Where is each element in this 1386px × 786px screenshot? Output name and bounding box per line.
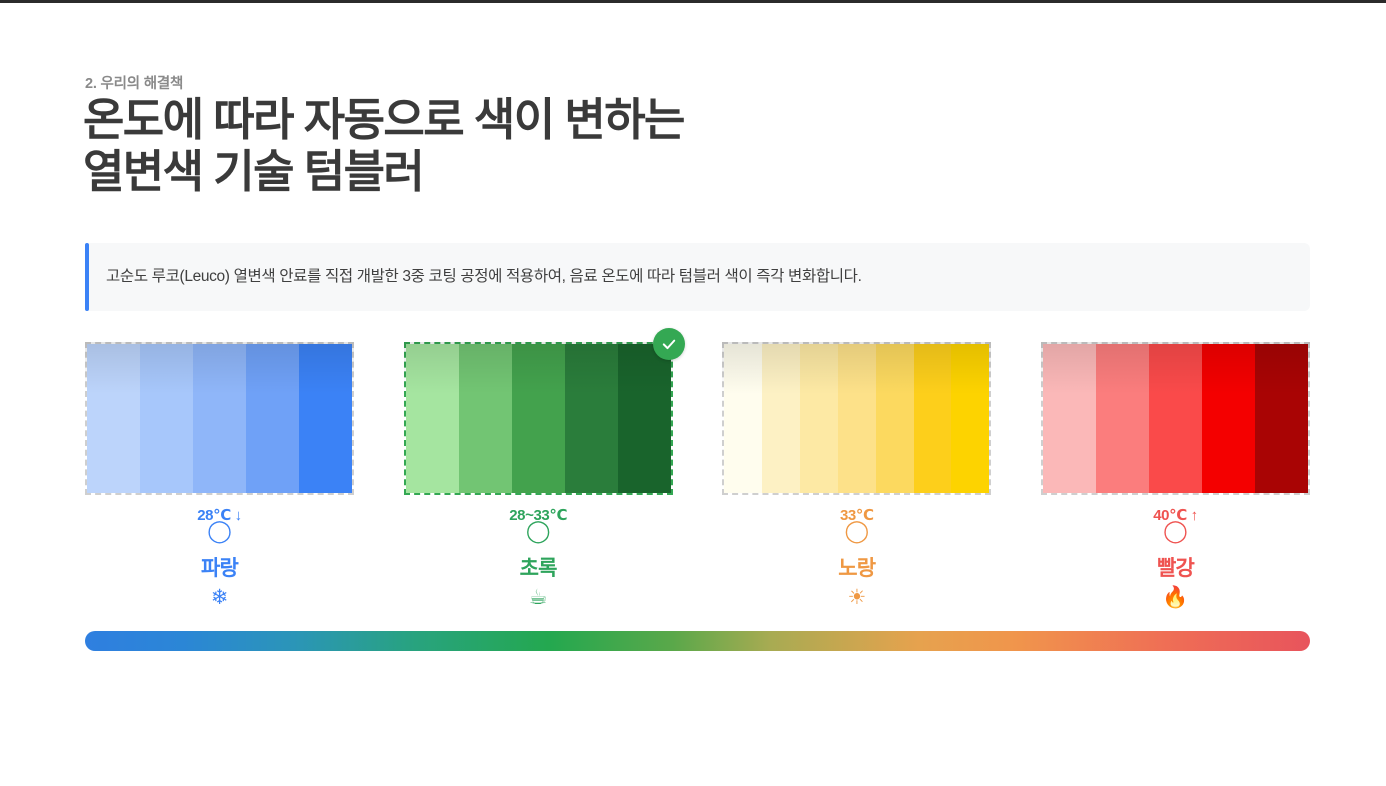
swatch-band [193, 344, 246, 493]
swatch-preview-red[interactable] [1041, 342, 1310, 495]
swatch-bands-green [404, 342, 673, 495]
swatch-column-blue[interactable]: ◯28℃ ↓파랑❄ [85, 342, 354, 610]
page-title-line-1: 온도에 따라 자동으로 색이 변하는 [83, 94, 684, 146]
swatch-band [406, 344, 459, 493]
description-callout: 고순도 루코(Leuco) 열변색 안료를 직접 개발한 3중 코팅 공정에 적… [85, 243, 1310, 311]
color-swatch-row: ◯28℃ ↓파랑❄◯28~33℃초록☕◯33℃노랑☀◯40℃ ↑빨강🔥 [85, 342, 1310, 610]
temperature-block-green: ◯28~33℃ [404, 506, 673, 546]
swatch-bands-red [1041, 342, 1310, 495]
swatch-preview-green[interactable] [404, 342, 673, 495]
state-yellow-icon: ☀ [847, 586, 866, 610]
callout-accent-bar [85, 243, 89, 311]
color-name-label: 파랑 [201, 552, 238, 582]
temperature-block-red: ◯40℃ ↑ [1041, 506, 1310, 546]
swatch-band [951, 344, 989, 493]
temperature-label: 28~33℃ [509, 506, 567, 524]
swatch-band [140, 344, 193, 493]
page-title-line-2: 열변색 기술 텀블러 [83, 146, 684, 198]
swatch-band [512, 344, 565, 493]
swatch-band [914, 344, 952, 493]
swatch-band [299, 344, 352, 493]
swatch-band [565, 344, 618, 493]
swatch-band [1255, 344, 1308, 493]
temperature-block-yellow: ◯33℃ [722, 506, 991, 546]
swatch-band [724, 344, 762, 493]
page-title: 온도에 따라 자동으로 색이 변하는 열변색 기술 텀블러 [83, 94, 684, 198]
temperature-label: 33℃ [840, 506, 874, 524]
swatch-band [1202, 344, 1255, 493]
swatch-bands-yellow [722, 342, 991, 495]
swatch-band [800, 344, 838, 493]
section-eyebrow: 2. 우리의 해결책 [85, 72, 183, 93]
selected-check-badge[interactable] [653, 328, 685, 360]
state-blue-icon: ❄ [211, 586, 229, 610]
swatch-band [87, 344, 140, 493]
swatch-band [246, 344, 299, 493]
swatch-column-red[interactable]: ◯40℃ ↑빨강🔥 [1041, 342, 1310, 610]
color-name-label: 초록 [520, 552, 557, 582]
swatch-bands-blue [85, 342, 354, 495]
swatch-column-yellow[interactable]: ◯33℃노랑☀ [722, 342, 991, 610]
swatch-band [618, 344, 671, 493]
swatch-preview-yellow[interactable] [722, 342, 991, 495]
check-icon [660, 335, 678, 353]
swatch-band [459, 344, 512, 493]
swatch-preview-blue[interactable] [85, 342, 354, 495]
temperature-block-blue: ◯28℃ ↓ [85, 506, 354, 546]
top-edge-rule [0, 0, 1386, 3]
swatch-band [876, 344, 914, 493]
state-green-icon: ☕ [529, 586, 548, 610]
state-red-icon: 🔥 [1162, 586, 1188, 610]
description-text: 고순도 루코(Leuco) 열변색 안료를 직접 개발한 3중 코팅 공정에 적… [85, 266, 862, 288]
temperature-gradient-bar [85, 631, 1310, 651]
swatch-band [762, 344, 800, 493]
swatch-column-green[interactable]: ◯28~33℃초록☕ [404, 342, 673, 610]
slide-canvas: 2. 우리의 해결책 온도에 따라 자동으로 색이 변하는 열변색 기술 텀블러… [0, 0, 1386, 786]
temperature-label: 40℃ ↑ [1153, 506, 1198, 524]
swatch-band [1096, 344, 1149, 493]
swatch-band [838, 344, 876, 493]
swatch-band [1149, 344, 1202, 493]
swatch-band [1043, 344, 1096, 493]
color-name-label: 빨강 [1157, 552, 1194, 582]
color-name-label: 노랑 [838, 552, 875, 582]
temperature-label: 28℃ ↓ [197, 506, 242, 524]
